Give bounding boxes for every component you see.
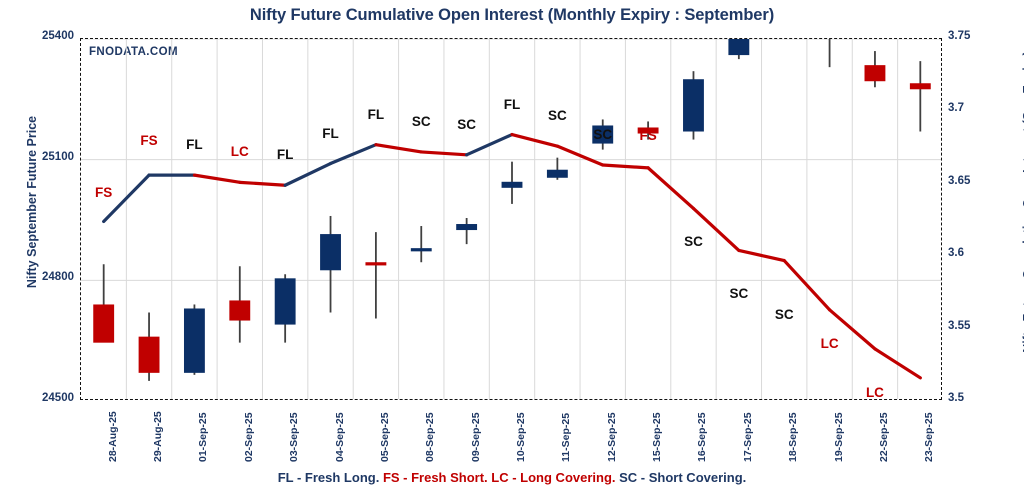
x-axis-labels: 28-Aug-2529-Aug-2501-Sep-2502-Sep-2503-S…: [80, 404, 942, 466]
x-tick-label: 18-Sep-25: [787, 412, 799, 462]
x-tick-label: 04-Sep-25: [334, 412, 346, 462]
x-tick-label: 02-Sep-25: [243, 412, 255, 462]
oi-annotation-sc: SC: [412, 114, 431, 129]
oi-annotation-fs: FS: [639, 128, 656, 143]
y-tick-right: 3.7: [948, 102, 964, 114]
y-axis-right: 3.753.73.653.63.553.5: [948, 38, 1008, 400]
oi-annotation-fl: FL: [277, 147, 294, 162]
y-tick-right: 3.65: [948, 175, 970, 187]
y-tick-left: 25400: [6, 30, 74, 42]
oi-annotation-sc: SC: [729, 286, 748, 301]
chart-root: Nifty Future Cumulative Open Interest (M…: [0, 0, 1024, 490]
x-tick-label: 12-Sep-25: [606, 412, 618, 462]
x-tick-label: 16-Sep-25: [696, 412, 708, 462]
legend-footnote: FL - Fresh Long. FS - Fresh Short. LC - …: [0, 470, 1024, 485]
oi-annotation-sc: SC: [593, 127, 612, 142]
x-tick-label: 17-Sep-25: [742, 412, 754, 462]
oi-annotation-fl: FL: [322, 126, 339, 141]
y-tick-left: 24800: [6, 271, 74, 283]
y-tick-left: 24500: [6, 392, 74, 404]
oi-annotation-lc: LC: [866, 385, 884, 399]
x-tick-label: 28-Aug-25: [107, 411, 119, 462]
x-tick-label: 03-Sep-25: [288, 412, 300, 462]
oi-annotation-sc: SC: [684, 234, 703, 249]
legend-sc: SC - Short Covering.: [619, 470, 746, 485]
oi-annotation-fl: FL: [186, 137, 203, 152]
oi-annotation-fl: FL: [504, 97, 521, 112]
oi-annotation-sc: SC: [457, 117, 476, 132]
y-tick-right: 3.5: [948, 392, 964, 404]
oi-annotation-fs: FS: [95, 185, 112, 200]
y-axis-left-title: Nifty September Future Price: [25, 52, 39, 352]
x-tick-label: 19-Sep-25: [833, 412, 845, 462]
y-tick-right: 3.6: [948, 247, 964, 259]
y-tick-right: 3.55: [948, 320, 970, 332]
oi-annotation-sc: SC: [775, 307, 794, 322]
page-title: Nifty Future Cumulative Open Interest (M…: [0, 6, 1024, 25]
x-tick-label: 10-Sep-25: [515, 412, 527, 462]
y-tick-right: 3.75: [948, 30, 970, 42]
x-tick-label: 11-Sep-25: [560, 413, 572, 462]
oi-annotation-lc: LC: [821, 336, 839, 351]
y-tick-left: 25100: [6, 151, 74, 163]
oi-annotation-sc: SC: [548, 108, 567, 123]
x-tick-label: 09-Sep-25: [470, 412, 482, 462]
x-tick-label: 05-Sep-25: [379, 412, 391, 462]
plot-area: FNODATA.COM FSFSFLLCFLFLFLSCSCFLSCSCFSSC…: [80, 38, 942, 400]
oi-annotation-fl: FL: [368, 107, 385, 122]
x-tick-label: 08-Sep-25: [424, 412, 436, 462]
oi-annotation-fs: FS: [140, 133, 157, 148]
series-layer: [81, 39, 941, 399]
oi-annotation-lc: LC: [231, 144, 249, 159]
x-tick-label: 22-Sep-25: [878, 412, 890, 462]
x-tick-label: 15-Sep-25: [651, 412, 663, 462]
legend-fl: FL - Fresh Long.: [278, 470, 380, 485]
legend-lc: LC - Long Covering.: [491, 470, 615, 485]
legend-fs: FS - Fresh Short.: [383, 470, 488, 485]
x-tick-label: 01-Sep-25: [197, 412, 209, 462]
x-tick-label: 29-Aug-25: [152, 411, 164, 462]
x-tick-label: 23-Sep-25: [923, 412, 935, 462]
plot-inner: FNODATA.COM FSFSFLLCFLFLFLSCSCFLSCSCFSSC…: [81, 39, 941, 399]
